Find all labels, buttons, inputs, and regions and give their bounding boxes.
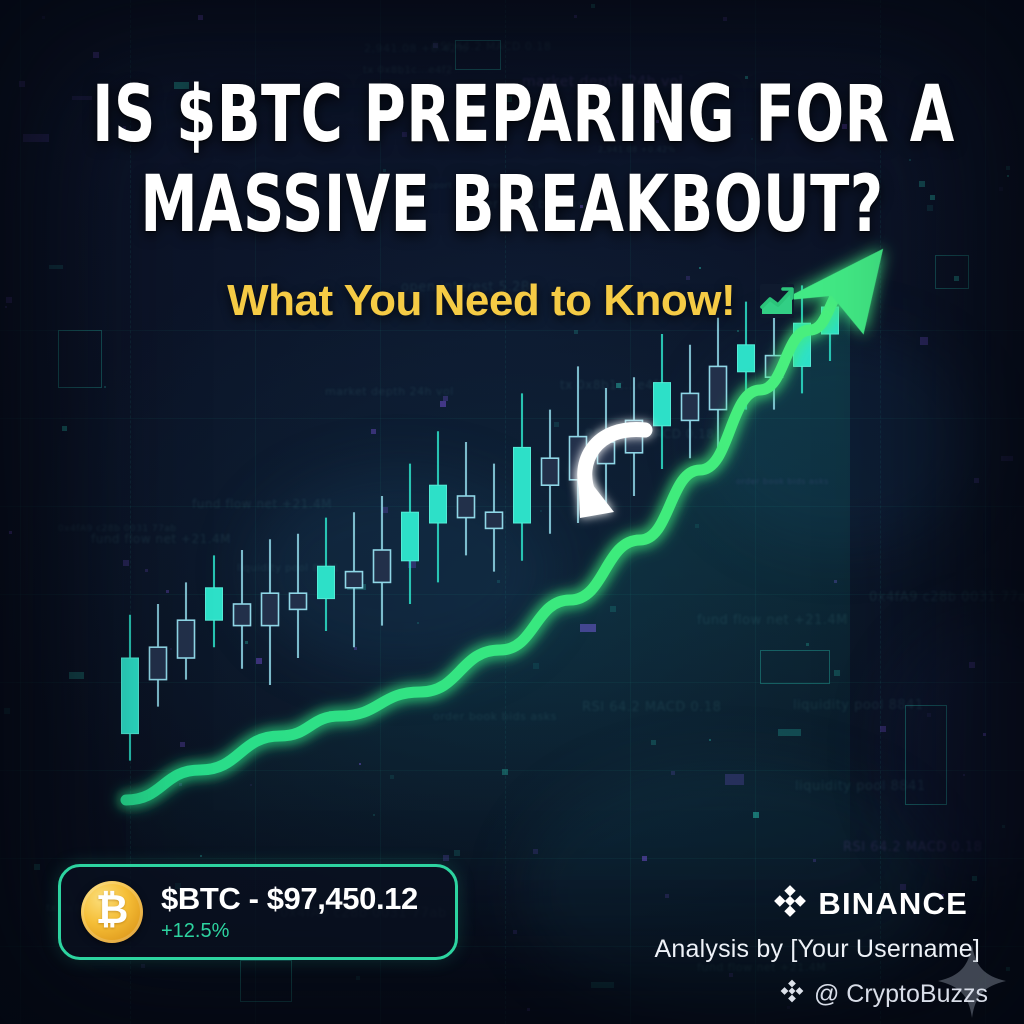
- watermark-label: @ CryptoBuzzs: [814, 980, 988, 1009]
- subtitle-text: What You Need to Know!: [227, 276, 735, 325]
- btc-price-label: $BTC - $97,450.12: [161, 881, 418, 917]
- byline-label: Analysis by [Your Username]: [655, 935, 980, 964]
- bitcoin-coin-icon: ₿: [81, 881, 143, 943]
- social-graphic-canvas: RSI 64.2 MACD 0.18liquidity pool 8841ope…: [0, 0, 1024, 1024]
- page-title-line2: MASSIVE BREAKBOUT?: [92, 168, 932, 243]
- price-badge[interactable]: ₿ $BTC - $97,450.12 +12.5%: [58, 864, 458, 960]
- price-badge-text: $BTC - $97,450.12 +12.5%: [161, 881, 418, 943]
- binance-wordmark: BINANCE: [818, 886, 968, 922]
- binance-diamond-icon: [779, 978, 805, 1011]
- binance-logo-icon: [773, 884, 807, 923]
- chart-increasing-emoji: [757, 281, 797, 332]
- bitcoin-symbol: ₿: [96, 890, 129, 930]
- binance-brand: BINANCE: [773, 884, 968, 923]
- page-title-line1: IS $BTC PREPARING FOR A: [92, 78, 932, 153]
- subtitle: What You Need to Know!: [0, 276, 1024, 332]
- watermark[interactable]: @ CryptoBuzzs: [779, 978, 988, 1011]
- btc-change-label: +12.5%: [161, 920, 418, 943]
